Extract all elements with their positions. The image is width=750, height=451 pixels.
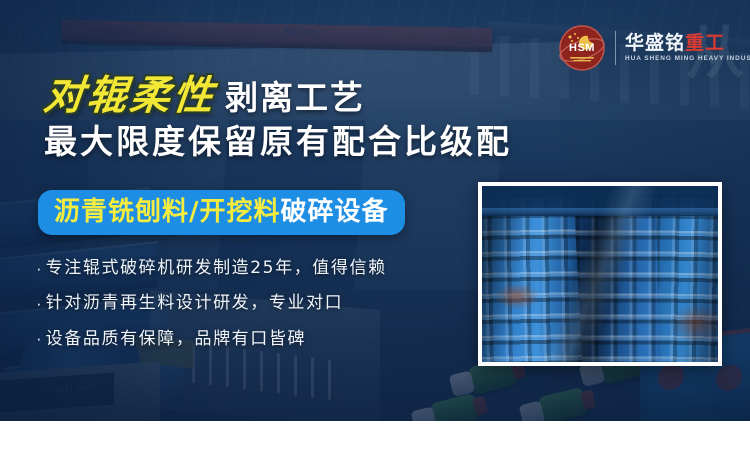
selling-points-list: · 专注辊式破碎机研发制造25年，值得信赖 · 针对沥青再生料设计研发，专业对口… xyxy=(36,258,387,349)
headline-highlight: 对辊柔性 xyxy=(42,76,218,116)
hsm-emblem-icon: HSM xyxy=(558,24,606,72)
logo-divider xyxy=(615,31,616,65)
company-name-cn: 华盛铭重工 xyxy=(625,34,750,53)
bullet-dot-icon: · xyxy=(36,330,42,347)
headline-line-2: 最大限度保留原有配合比级配 xyxy=(44,123,512,161)
list-item: · 专注辊式破碎机研发制造25年，值得信赖 xyxy=(36,258,387,278)
banner-stage: 河南矿山 50/10t 0371-6425 从 xyxy=(0,0,750,451)
product-category-tag: 沥青铣刨料/开挖料破碎设备 xyxy=(38,190,405,235)
svg-text:HSM: HSM xyxy=(569,42,595,54)
headline-line-1: 对辊柔性 剥离工艺 xyxy=(44,76,512,116)
company-logo[interactable]: HSM 华盛铭重工 HUA SHENG MING HEAVY INDUSTRY xyxy=(558,24,750,72)
company-name-en: HUA SHENG MING HEAVY INDUSTRY xyxy=(625,55,750,62)
product-photo xyxy=(482,186,718,362)
product-photo-card[interactable] xyxy=(478,182,722,366)
list-item-label: 专注辊式破碎机研发制造25年，值得信赖 xyxy=(46,258,387,278)
bullet-dot-icon: · xyxy=(36,295,42,312)
hero-banner: 河南矿山 50/10t 0371-6425 从 xyxy=(0,0,750,421)
list-item-label: 针对沥青再生料设计研发，专业对口 xyxy=(46,293,344,313)
list-item-label: 设备品质有保障，品牌有口皆碑 xyxy=(46,329,306,349)
company-name-cn-primary: 华盛铭 xyxy=(625,32,685,54)
list-item: · 针对沥青再生料设计研发，专业对口 xyxy=(36,293,387,313)
photo-highlight-glint xyxy=(482,186,718,362)
logo-text-block: 华盛铭重工 HUA SHENG MING HEAVY INDUSTRY xyxy=(625,34,750,62)
tag-rest-text: 破碎设备 xyxy=(281,197,389,227)
bullet-dot-icon: · xyxy=(36,260,42,277)
list-item: · 设备品质有保障，品牌有口皆碑 xyxy=(36,329,387,349)
headline-line-1-rest: 剥离工艺 xyxy=(225,81,365,114)
tag-highlight-text: 沥青铣刨料/开挖料 xyxy=(54,197,281,227)
headline-block: 对辊柔性 剥离工艺 最大限度保留原有配合比级配 xyxy=(44,76,512,161)
company-name-cn-accent: 重工 xyxy=(685,32,725,54)
